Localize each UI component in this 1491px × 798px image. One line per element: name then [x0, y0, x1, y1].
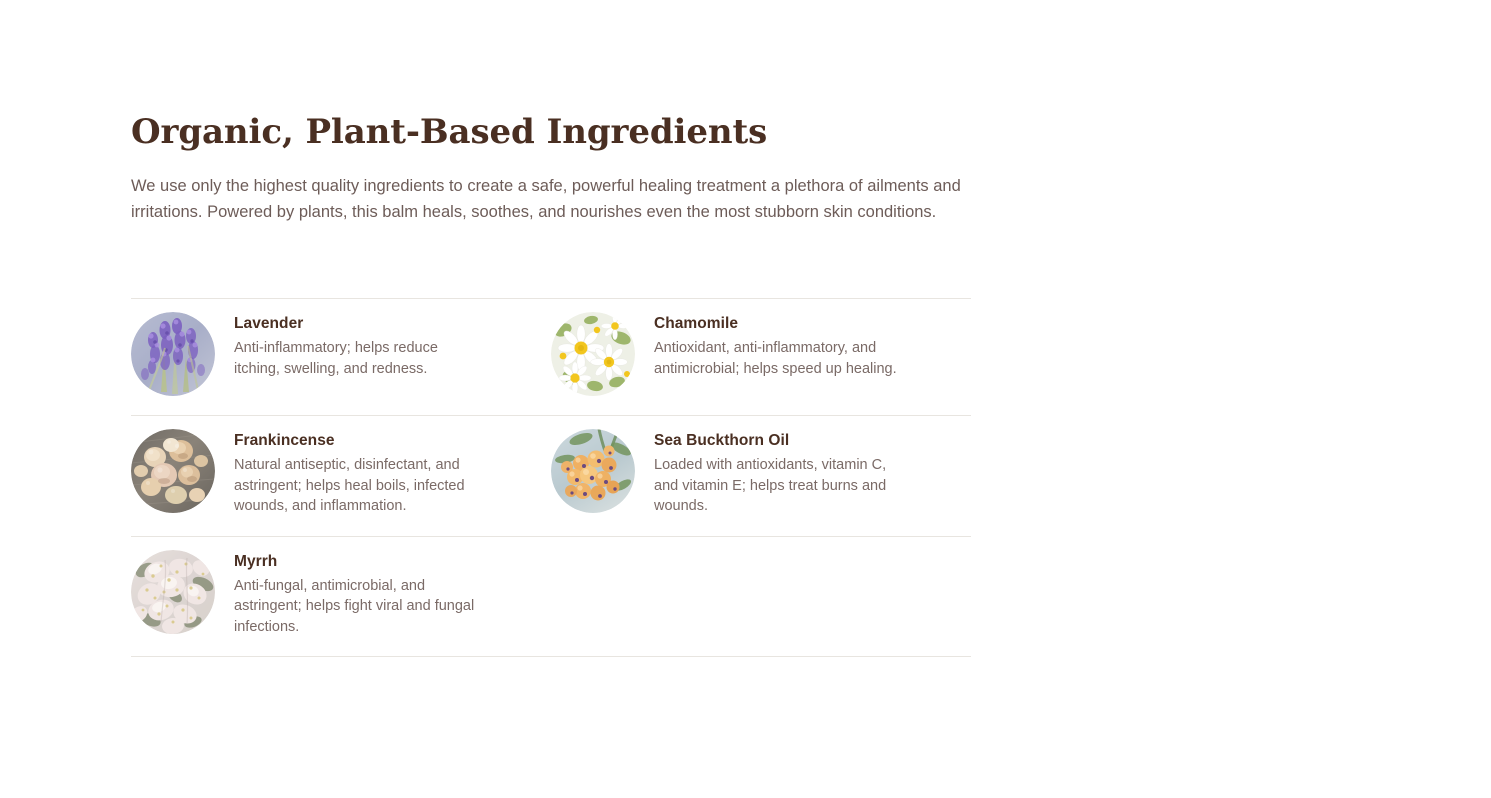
- lavender-photo: [131, 312, 215, 396]
- ingredient-name: Sea Buckthorn Oil: [654, 431, 900, 451]
- ingredient-row: Myrrh Anti-fungal, antimicrobial, and as…: [131, 537, 971, 657]
- ingredient-item-myrrh[interactable]: Myrrh Anti-fungal, antimicrobial, and as…: [131, 537, 551, 657]
- ingredient-text: Sea Buckthorn Oil Loaded with antioxidan…: [635, 429, 900, 517]
- ingredient-row: Frankincense Natural antiseptic, disinfe…: [131, 416, 971, 536]
- chamomile-photo: [551, 312, 635, 396]
- ingredient-description: Antioxidant, anti-inflammatory, and anti…: [654, 334, 900, 379]
- frankincense-photo: [131, 429, 215, 513]
- ingredient-name: Frankincense: [234, 431, 486, 451]
- content-container: Organic, Plant-Based Ingredients We use …: [131, 0, 971, 657]
- ingredient-name: Lavender: [234, 314, 486, 334]
- divider-bottom: [131, 656, 971, 657]
- ingredient-name: Chamomile: [654, 314, 900, 334]
- ingredient-text: Chamomile Antioxidant, anti-inflammatory…: [635, 312, 900, 379]
- section-intro-paragraph: We use only the highest quality ingredie…: [131, 152, 969, 225]
- ingredient-description: Natural antiseptic, disinfectant, and as…: [234, 451, 486, 517]
- ingredient-name: Myrrh: [234, 552, 486, 572]
- ingredient-item-sea-buckthorn-oil[interactable]: Sea Buckthorn Oil Loaded with antioxidan…: [551, 416, 971, 536]
- ingredient-item-lavender[interactable]: Lavender Anti-inflammatory; helps reduce…: [131, 299, 551, 415]
- ingredient-item-chamomile[interactable]: Chamomile Antioxidant, anti-inflammatory…: [551, 299, 971, 415]
- ingredient-text: Lavender Anti-inflammatory; helps reduce…: [215, 312, 486, 379]
- ingredient-grid: Lavender Anti-inflammatory; helps reduce…: [131, 299, 971, 657]
- ingredient-description: Loaded with antioxidants, vitamin C, and…: [654, 451, 900, 517]
- ingredient-row: Lavender Anti-inflammatory; helps reduce…: [131, 299, 971, 415]
- ingredients-page: Organic, Plant-Based Ingredients We use …: [0, 0, 1491, 798]
- ingredient-description: Anti-inflammatory; helps reduce itching,…: [234, 334, 486, 379]
- ingredient-text: Myrrh Anti-fungal, antimicrobial, and as…: [215, 550, 486, 638]
- ingredient-description: Anti-fungal, antimicrobial, and astringe…: [234, 572, 486, 638]
- sea-buckthorn-photo: [551, 429, 635, 513]
- ingredient-text: Frankincense Natural antiseptic, disinfe…: [215, 429, 486, 517]
- myrrh-photo: [131, 550, 215, 634]
- page-title: Organic, Plant-Based Ingredients: [131, 0, 971, 152]
- ingredient-item-frankincense[interactable]: Frankincense Natural antiseptic, disinfe…: [131, 416, 551, 536]
